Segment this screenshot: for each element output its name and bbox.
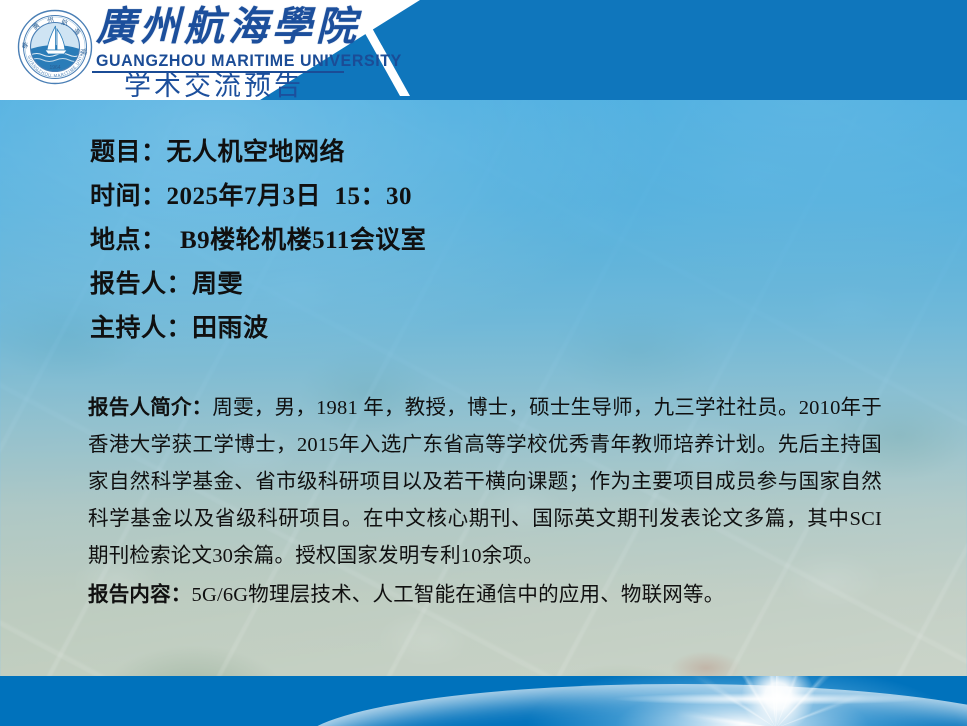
speaker-detail-block: 报告人简介：周雯，男，1981 年，教授，博士，硕士生导师，九三学社社员。201… (88, 390, 882, 614)
university-name-en: GUANGZHOU MARITIME UNIVERSITY (96, 52, 402, 71)
speaker-bio-paragraph: 报告人简介：周雯，男，1981 年，教授，博士，硕士生导师，九三学社社员。201… (88, 390, 882, 575)
speaker-bio-label: 报告人简介： (88, 397, 212, 419)
talk-topic-label: 报告内容： (88, 584, 192, 606)
info-line-speaker: 报告人：周雯 (90, 263, 890, 307)
announcement-slide: 廣 州 航 海 學 院 GUANGZHOU MARITIME UNIVERSIT… (0, 0, 967, 726)
info-line-time: 时间：2025年7月3日 15：30 (90, 175, 890, 219)
announcement-info-list: 题目：无人机空地网络 时间：2025年7月3日 15：30 地点： B9楼轮机楼… (90, 131, 890, 351)
info-line-place: 地点： B9楼轮机楼511会议室 (90, 219, 890, 263)
header-subtitle: 学术交流预告 (124, 70, 304, 102)
slide-body: 题目：无人机空地网络 时间：2025年7月3日 15：30 地点： B9楼轮机楼… (0, 100, 967, 676)
university-seal-logo: 廣 州 航 海 學 院 GUANGZHOU MARITIME UNIVERSIT… (17, 9, 93, 85)
footer-bar (0, 676, 967, 726)
footer-flare-core (742, 676, 814, 726)
svg-text:1964: 1964 (49, 65, 60, 71)
slide-header: 廣 州 航 海 學 院 GUANGZHOU MARITIME UNIVERSIT… (0, 0, 967, 100)
talk-topic-paragraph: 报告内容：5G/6G物理层技术、人工智能在通信中的应用、物联网等。 (88, 577, 882, 614)
info-line-title: 题目：无人机空地网络 (90, 131, 890, 175)
talk-topic-text: 5G/6G物理层技术、人工智能在通信中的应用、物联网等。 (192, 584, 725, 606)
speaker-bio-text: 周雯，男，1981 年，教授，博士，硕士生导师，九三学社社员。2010年于香港大… (88, 397, 882, 567)
university-name-cn: 廣州航海學院 (96, 4, 360, 50)
info-line-host: 主持人：田雨波 (90, 307, 890, 351)
